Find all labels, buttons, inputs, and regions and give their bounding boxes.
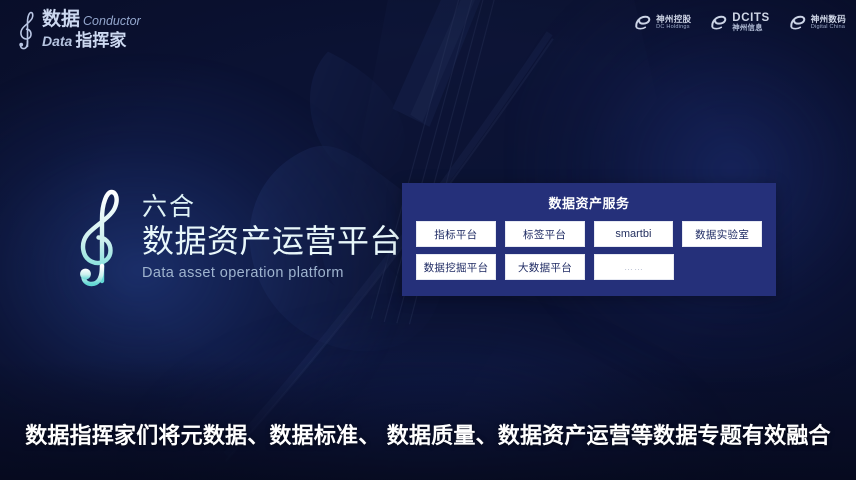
service-card-shuju-wajue-pingtai[interactable]: 数据挖掘平台 [416,254,496,280]
brand-wordmark: 数据 Conductor Data 指挥家 [42,10,141,49]
swirl-logo-icon [633,13,652,32]
data-asset-service-panel: 数据资产服务 指标平台 标签平台 smartbi 数据实验室 数据挖掘平台 大数… [402,183,776,296]
service-card-biaoqian-pingtai[interactable]: 标签平台 [505,221,585,247]
hero-title-en: Data asset operation platform [142,265,402,281]
brand-line2-cn: 指挥家 [75,32,126,49]
partner-logo-dcits: DCITS 神州信息 [709,12,770,32]
panel-card-row: 数据挖掘平台 大数据平台 …… [416,254,762,280]
service-card-shuju-shiyanshi[interactable]: 数据实验室 [682,221,762,247]
hero-title-cn: 数据资产运营平台 [142,223,402,261]
brand-line2-en: Data [42,34,72,48]
brand-line1-cn: 数据 [42,10,80,29]
hero-title-text: 六合 数据资产运营平台 Data asset operation platfor… [142,195,402,282]
partner-name-en: 神州信息 [732,24,770,32]
hero-subtitle-cn: 六合 [142,195,402,220]
brand-logo: 数据 Conductor Data 指挥家 [14,8,141,50]
slide-caption: 数据指挥家们将元数据、数据标准、 数据质量、数据资产运营等数据专题有效融合 [0,418,856,450]
service-card-dashuju-pingtai[interactable]: 大数据平台 [505,254,585,280]
brand-line1-en: Conductor [83,15,141,28]
panel-card-row: 指标平台 标签平台 smartbi 数据实验室 [416,221,762,247]
panel-title: 数据资产服务 [402,183,776,212]
header-bar: 数据 Conductor Data 指挥家 神州控股 [0,0,856,56]
treble-clef-icon [72,186,130,290]
slide-canvas: 数据 Conductor Data 指挥家 神州控股 [0,0,856,480]
panel-card-grid: 指标平台 标签平台 smartbi 数据实验室 数据挖掘平台 大数据平台 …… [402,212,776,280]
partner-logo-digital-china: 神州数码 Digital China [788,13,846,32]
swirl-logo-icon [788,13,807,32]
service-card-zhibiao-pingtai[interactable]: 指标平台 [416,221,496,247]
service-card-more[interactable]: …… [594,254,674,280]
service-card-smartbi[interactable]: smartbi [594,221,674,247]
partner-logo-group: 神州控股 DC Holdings DCITS 神州信息 [633,12,846,32]
partner-name-cn: 神州控股 [656,15,691,24]
partner-name-en: Digital China [811,24,846,30]
hero-title-block: 六合 数据资产运营平台 Data asset operation platfor… [72,186,402,290]
treble-clef-icon [14,8,40,50]
partner-name-cn: 神州数码 [811,15,846,24]
partner-logo-dc-holdings: 神州控股 DC Holdings [633,13,691,32]
partner-name-en: DC Holdings [656,24,691,30]
swirl-logo-icon [709,13,728,32]
